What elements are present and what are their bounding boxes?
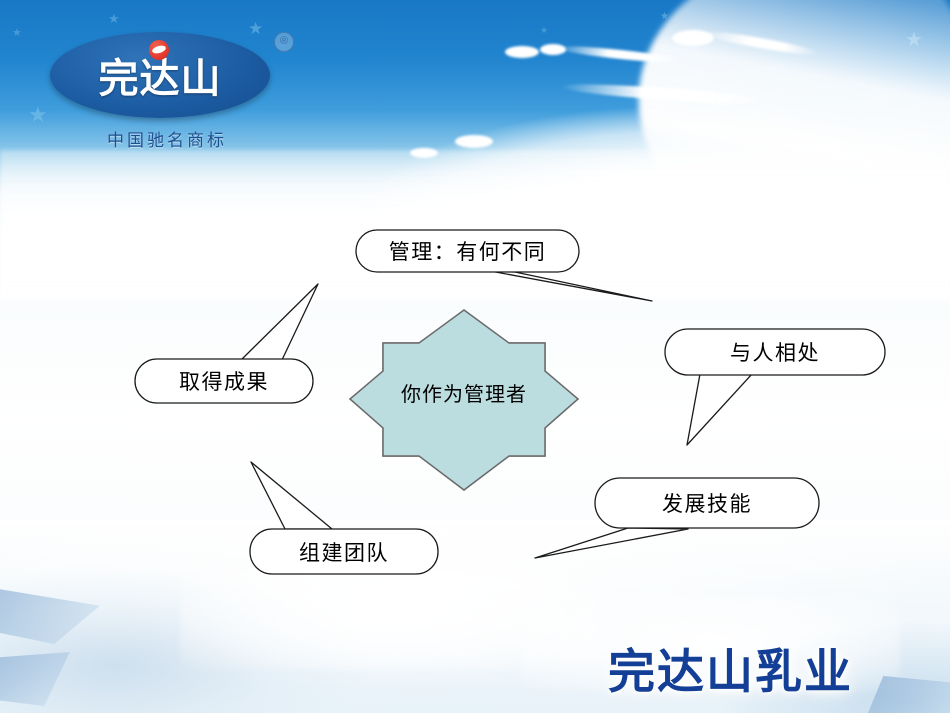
center-star-label: 你作为管理者 <box>355 378 573 407</box>
callout-tail-achieve-results <box>240 284 318 362</box>
callout-tail-relate-to-people <box>687 374 752 445</box>
callout-tail-build-team <box>251 462 332 529</box>
slide-canvas: ★ ★ ★ ★ ★ ★ ★ ★ ★ 完达山 ® 中国驰名商标 <box>0 0 950 713</box>
callout-label-relate-to-people: 与人相处 <box>665 329 885 375</box>
callout-label-achieve-results: 取得成果 <box>135 359 313 403</box>
callout-label-build-team: 组建团队 <box>250 529 438 574</box>
callout-label-management-difference: 管理：有何不同 <box>356 230 579 272</box>
callout-tail-management-difference <box>490 271 652 301</box>
callout-tail-develop-skills <box>535 528 688 558</box>
management-diagram: 你作为管理者 管理：有何不同 与人相处 发展技能 组建团队 取得成果 <box>0 0 950 713</box>
callout-label-develop-skills: 发展技能 <box>595 478 819 528</box>
footer-brand-text: 完达山乳业 <box>608 633 853 702</box>
